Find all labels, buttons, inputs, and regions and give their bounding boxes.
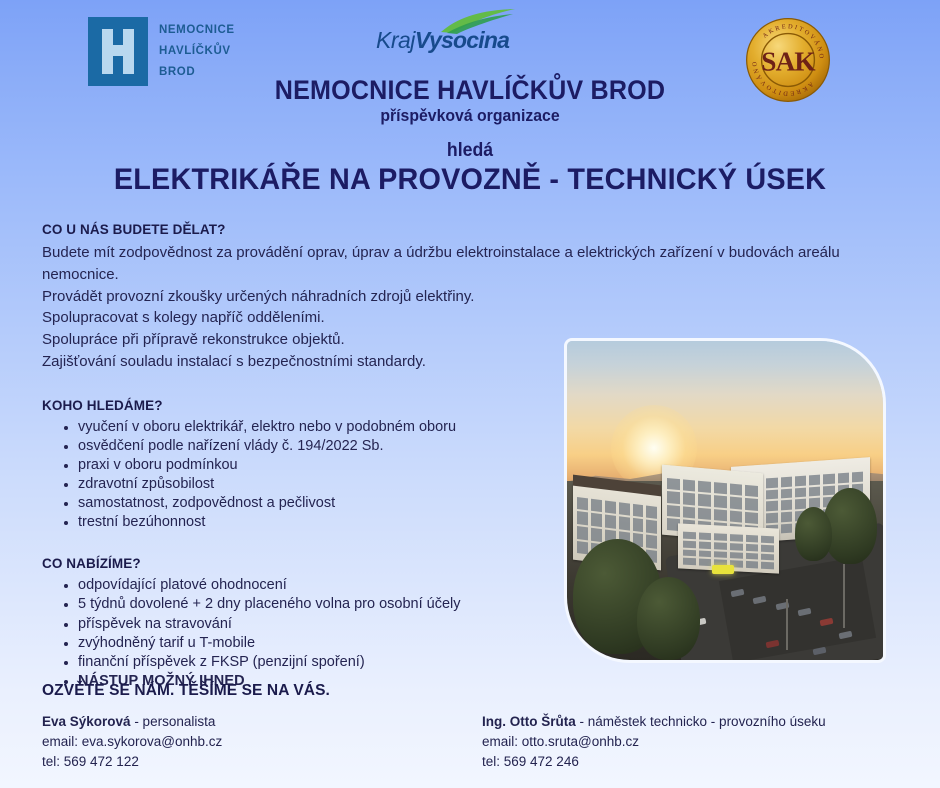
seeking-label: hledá [33,140,907,162]
contact-section: Eva Sýkorová - personalista email: eva.s… [42,714,902,771]
duties-line: Spolupracovat s kolegy napříč odděleními… [42,307,862,329]
duties-line: Zajišťování souladu instalací s bezpečno… [42,351,862,373]
hospital-logo-text: NEMOCNICE HAVLÍČKŮV BROD [159,20,235,84]
list-item: samostatnost, zodpovědnost a pečlivost [64,494,542,513]
list-item: zvýhodněný tarif u T-mobile [64,634,562,653]
contact-name: Eva Sýkorová [42,714,131,729]
offer-heading: CO NABÍZÍME? [42,556,562,571]
contact-person-1: Eva Sýkorová - personalista email: eva.s… [42,714,462,771]
requirements-list: vyučení v oboru elektrikář, elektro nebo… [42,418,542,533]
contact-phone[interactable]: tel: 569 472 246 [482,752,902,772]
contact-call-to-action: OZVĚTE SE NÁM. TĚŠÍME SE NA VÁS. [42,682,330,700]
list-item: vyučení v oboru elektrikář, elektro nebo… [64,418,542,437]
svg-text:SAK: SAK [761,47,815,77]
contact-role: - náměstek technicko - provozního úseku [576,714,826,729]
job-advert-poster: NEMOCNICE HAVLÍČKŮV BROD KrajVysocina [0,0,940,788]
contact-name-line: Eva Sýkorová - personalista [42,714,462,729]
kraj-word: Kraj [376,27,415,53]
organization-subtitle: příspěvková organizace [33,106,907,126]
list-item: finanční příspěvek z FKSP (penzijní spoř… [64,653,562,672]
list-item: 5 týdnů dovolené + 2 dny placeného volna… [64,595,562,614]
contact-email[interactable]: email: eva.sykorova@onhb.cz [42,732,462,752]
duties-line: Spolupráce při přípravě rekonstrukce obj… [42,329,862,351]
requirements-section: KOHO HLEDÁME? vyučení v oboru elektrikář… [42,398,542,533]
hospital-logo-line-1: NEMOCNICE [159,20,235,41]
contact-phone[interactable]: tel: 569 472 122 [42,752,462,772]
contact-person-2: Ing. Otto Šrůta - náměstek technicko - p… [482,714,902,771]
list-item: příspěvek na stravování [64,615,562,634]
offer-section: CO NABÍZÍME? odpovídající platové ohodno… [42,556,562,691]
offer-list: odpovídající platové ohodnocení 5 týdnů … [42,576,562,691]
list-item: praxi v oboru podmínkou [64,456,542,475]
contact-name-line: Ing. Otto Šrůta - náměstek technicko - p… [482,714,902,729]
list-item: zdravotní způsobilost [64,475,542,494]
contact-email[interactable]: email: otto.sruta@onhb.cz [482,732,902,752]
list-item: odpovídající platové ohodnocení [64,576,562,595]
hospital-logo-line-2: HAVLÍČKŮV [159,41,235,62]
duties-section: CO U NÁS BUDETE DĚLAT? Budete mít zodpov… [42,222,862,373]
kraj-vysocina-logo: KrajVysocina [376,8,526,60]
vysocina-word: Vysocina [415,27,509,53]
contact-role: - personalista [131,714,216,729]
duties-body: Budete mít zodpovědnost za provádění opr… [42,242,862,373]
organization-title-block: NEMOCNICE HAVLÍČKŮV BROD příspěvková org… [0,76,940,126]
list-item: osvědčení podle nařízení vlády č. 194/20… [64,437,542,456]
list-item: trestní bezúhonnost [64,513,542,532]
organization-name: NEMOCNICE HAVLÍČKŮV BROD [33,76,907,104]
requirements-heading: KOHO HLEDÁME? [42,398,542,413]
duties-line: Budete mít zodpovědnost za provádění opr… [42,242,862,286]
duties-heading: CO U NÁS BUDETE DĚLAT? [42,222,862,237]
contact-name: Ing. Otto Šrůta [482,714,576,729]
duties-line: Provádět provozní zkoušky určených náhra… [42,286,862,308]
poster-content: CO U NÁS BUDETE DĚLAT? Budete mít zodpov… [42,222,870,691]
page-title: ELEKTRIKÁŘE NA PROVOZNĚ - TECHNICKÝ ÚSEK [19,163,921,197]
kraj-vysocina-wordmark: KrajVysocina [376,29,509,52]
